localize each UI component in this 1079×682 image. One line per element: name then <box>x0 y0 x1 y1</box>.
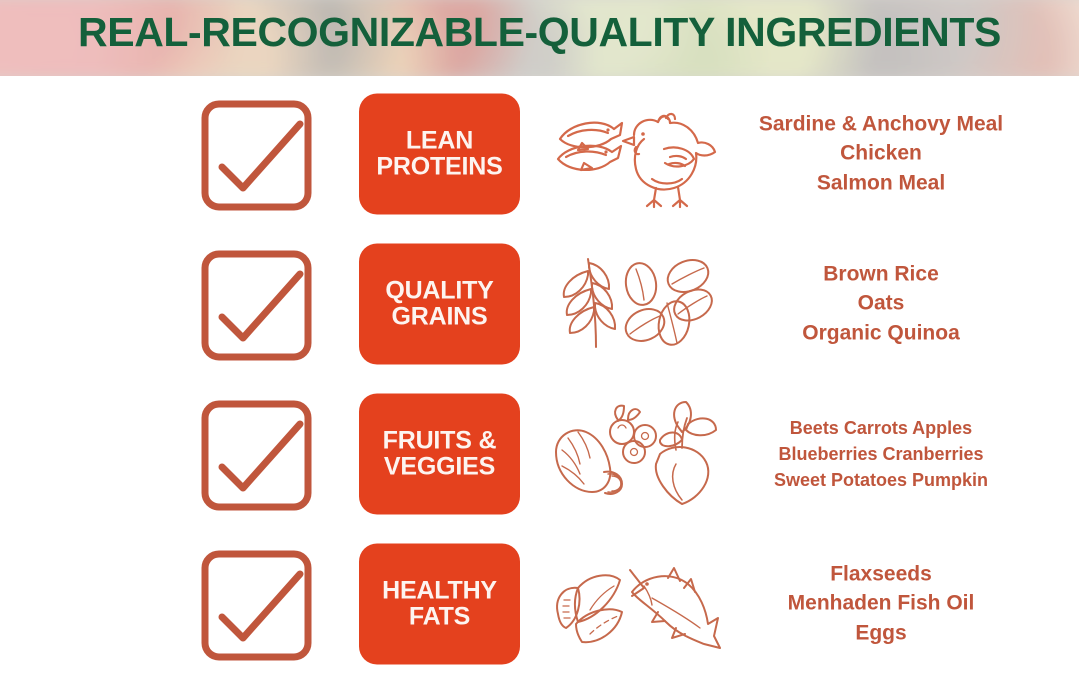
checkbox-quality-grains[interactable] <box>196 243 318 365</box>
badge-quality-grains: QUALITY GRAINS <box>359 243 520 364</box>
ingredient-list-quality-grains: Brown Rice Oats Organic Quinoa <box>712 259 1050 348</box>
ingredient-list-lean-proteins: Sardine & Anchovy Meal Chicken Salmon Me… <box>712 109 1050 198</box>
ingredient-list-healthy-fats: Flaxseeds Menhaden Fish Oil Eggs <box>712 559 1050 648</box>
badge-line-1: LEAN <box>406 127 473 154</box>
ingredient-item: Salmon Meal <box>712 168 1050 198</box>
ingredients-infographic: REAL-RECOGNIZABLE-QUALITY INGREDIENTS LE… <box>0 0 1079 682</box>
checkbox-lean-proteins[interactable] <box>196 93 318 215</box>
checkbox-fruits-veggies[interactable] <box>196 393 318 515</box>
ingredient-rows: LEAN PROTEINS <box>0 76 1079 682</box>
ingredient-row-healthy-fats: HEALTHY FATS <box>0 528 1079 679</box>
badge-line-1: FRUITS & <box>383 427 497 454</box>
header-banner: REAL-RECOGNIZABLE-QUALITY INGREDIENTS <box>0 0 1079 76</box>
ingredient-item: Sweet Potatoes Pumpkin <box>712 467 1050 493</box>
ingredient-item: Organic Quinoa <box>712 318 1050 348</box>
ingredient-row-fruits-veggies: FRUITS & VEGGIES <box>0 378 1079 529</box>
wheat-and-grains-icon <box>548 245 724 363</box>
badge-fruits-veggies: FRUITS & VEGGIES <box>359 393 520 514</box>
badge-line-2: GRAINS <box>391 304 487 331</box>
badge-lean-proteins: LEAN PROTEINS <box>359 93 520 214</box>
ingredient-item: Eggs <box>712 618 1050 648</box>
flaxseed-and-fish-icon <box>548 545 724 663</box>
badge-line-2: VEGGIES <box>384 454 495 481</box>
badge-line-1: QUALITY <box>385 277 493 304</box>
badge-line-1: HEALTHY <box>382 577 497 604</box>
fish-and-chicken-icon <box>548 95 724 213</box>
ingredient-item: Beets Carrots Apples <box>712 414 1050 440</box>
badge-line-2: FATS <box>409 604 470 631</box>
badge-line-2: PROTEINS <box>376 154 502 181</box>
ingredient-row-quality-grains: QUALITY GRAINS <box>0 228 1079 379</box>
badge-healthy-fats: HEALTHY FATS <box>359 543 520 664</box>
ingredient-row-lean-proteins: LEAN PROTEINS <box>0 78 1079 229</box>
ingredient-item: Blueberries Cranberries <box>712 440 1050 466</box>
ingredient-list-fruits-veggies: Beets Carrots Apples Blueberries Cranber… <box>712 414 1050 492</box>
ingredient-item: Chicken <box>712 139 1050 169</box>
checkbox-healthy-fats[interactable] <box>196 543 318 665</box>
ingredient-item: Flaxseeds <box>712 559 1050 589</box>
ingredient-item: Brown Rice <box>712 259 1050 289</box>
sweet-potato-berries-beet-icon <box>548 395 724 513</box>
ingredient-item: Sardine & Anchovy Meal <box>712 109 1050 139</box>
ingredient-item: Menhaden Fish Oil <box>712 589 1050 619</box>
page-title: REAL-RECOGNIZABLE-QUALITY INGREDIENTS <box>0 9 1079 56</box>
ingredient-item: Oats <box>712 289 1050 319</box>
